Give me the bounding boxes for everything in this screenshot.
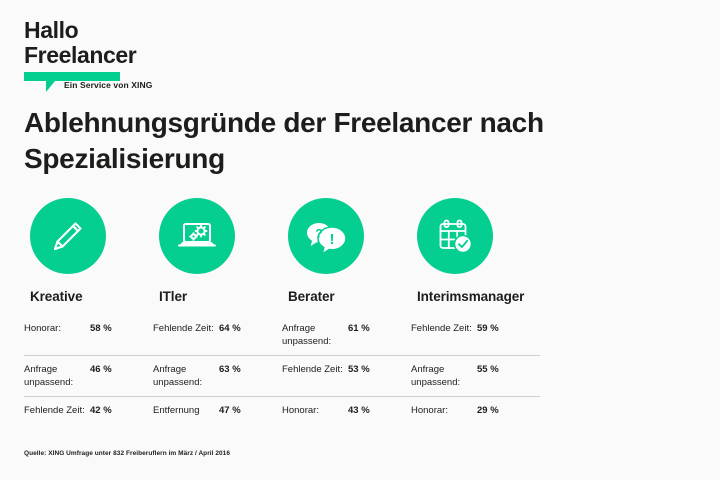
reason-label: Fehlende Zeit: xyxy=(411,322,477,335)
cell-kreative-reason-2: Anfrage unpassend: 46 % xyxy=(24,356,153,396)
category-column-interimsmanager: Interimsmanager xyxy=(411,198,540,307)
cell-itler-reason-1: Fehlende Zeit: 64 % xyxy=(153,315,282,355)
svg-text:!: ! xyxy=(330,231,335,248)
cell-itler-reason-3: Entfernung 47 % xyxy=(153,397,282,437)
table-row: Honorar: 58 % Fehlende Zeit: 64 % Anfrag… xyxy=(24,315,540,356)
reason-label: Honorar: xyxy=(24,322,90,335)
category-column-kreative: Kreative xyxy=(24,198,153,307)
logo-line-2: Freelancer xyxy=(24,43,264,68)
reason-label: Anfrage unpassend: xyxy=(153,363,219,389)
pencil-icon xyxy=(30,198,106,274)
reason-label: Entfernung xyxy=(153,404,219,417)
svg-text:?: ? xyxy=(315,227,322,241)
logo-line-1: Hallo xyxy=(24,18,264,43)
reason-value: 64 % xyxy=(219,322,241,335)
cell-berater-reason-2: Fehlende Zeit: 53 % xyxy=(282,356,411,396)
reason-value: 61 % xyxy=(348,322,370,335)
cell-interimsmanager-reason-3: Honorar: 29 % xyxy=(411,397,540,437)
category-column-itler: ITler xyxy=(153,198,282,307)
brand-logo: Hallo Freelancer Ein Service von XING xyxy=(24,18,264,92)
column-header-berater: Berater xyxy=(288,289,411,307)
reason-value: 58 % xyxy=(90,322,112,335)
table-row: Fehlende Zeit: 42 % Entfernung 47 % Hono… xyxy=(24,397,540,437)
reason-value: 63 % xyxy=(219,363,241,376)
calendar-clock-icon xyxy=(417,198,493,274)
cell-interimsmanager-reason-2: Anfrage unpassend: 55 % xyxy=(411,356,540,396)
reason-label: Fehlende Zeit: xyxy=(282,363,348,376)
logo-bubble-tail xyxy=(46,81,55,92)
category-columns: Kreative ITler ? ! Berater xyxy=(24,198,540,307)
reason-value: 47 % xyxy=(219,404,241,417)
cell-kreative-reason-3: Fehlende Zeit: 42 % xyxy=(24,397,153,437)
cell-interimsmanager-reason-1: Fehlende Zeit: 59 % xyxy=(411,315,540,355)
speech-bubbles-icon: ? ! xyxy=(288,198,364,274)
reason-label: Fehlende Zeit: xyxy=(24,404,90,417)
page-title: Ablehnungsgründe der Freelancer nach Spe… xyxy=(24,105,584,177)
reason-label: Anfrage unpassend: xyxy=(24,363,90,389)
source-note: Quelle: XING Umfrage unter 832 Freiberuf… xyxy=(24,450,230,457)
reason-value: 53 % xyxy=(348,363,370,376)
reason-value: 29 % xyxy=(477,404,499,417)
reason-value: 46 % xyxy=(90,363,112,376)
reason-label: Fehlende Zeit: xyxy=(153,322,219,335)
category-column-berater: ? ! Berater xyxy=(282,198,411,307)
cell-berater-reason-3: Honorar: 43 % xyxy=(282,397,411,437)
column-header-itler: ITler xyxy=(159,289,282,307)
cell-kreative-reason-1: Honorar: 58 % xyxy=(24,315,153,355)
table-row: Anfrage unpassend: 46 % Anfrage unpassen… xyxy=(24,356,540,397)
cell-itler-reason-2: Anfrage unpassend: 63 % xyxy=(153,356,282,396)
column-header-interimsmanager: Interimsmanager xyxy=(417,289,540,307)
reason-label: Anfrage unpassend: xyxy=(282,322,348,348)
reason-value: 55 % xyxy=(477,363,499,376)
logo-tagline: Ein Service von XING xyxy=(64,80,152,90)
laptop-gears-icon xyxy=(159,198,235,274)
reasons-table: Honorar: 58 % Fehlende Zeit: 64 % Anfrag… xyxy=(24,315,540,437)
reason-label: Honorar: xyxy=(411,404,477,417)
reason-value: 42 % xyxy=(90,404,112,417)
cell-berater-reason-1: Anfrage unpassend: 61 % xyxy=(282,315,411,355)
reason-label: Anfrage unpassend: xyxy=(411,363,477,389)
reason-value: 43 % xyxy=(348,404,370,417)
column-header-kreative: Kreative xyxy=(30,289,153,307)
reason-label: Honorar: xyxy=(282,404,348,417)
reason-value: 59 % xyxy=(477,322,499,335)
